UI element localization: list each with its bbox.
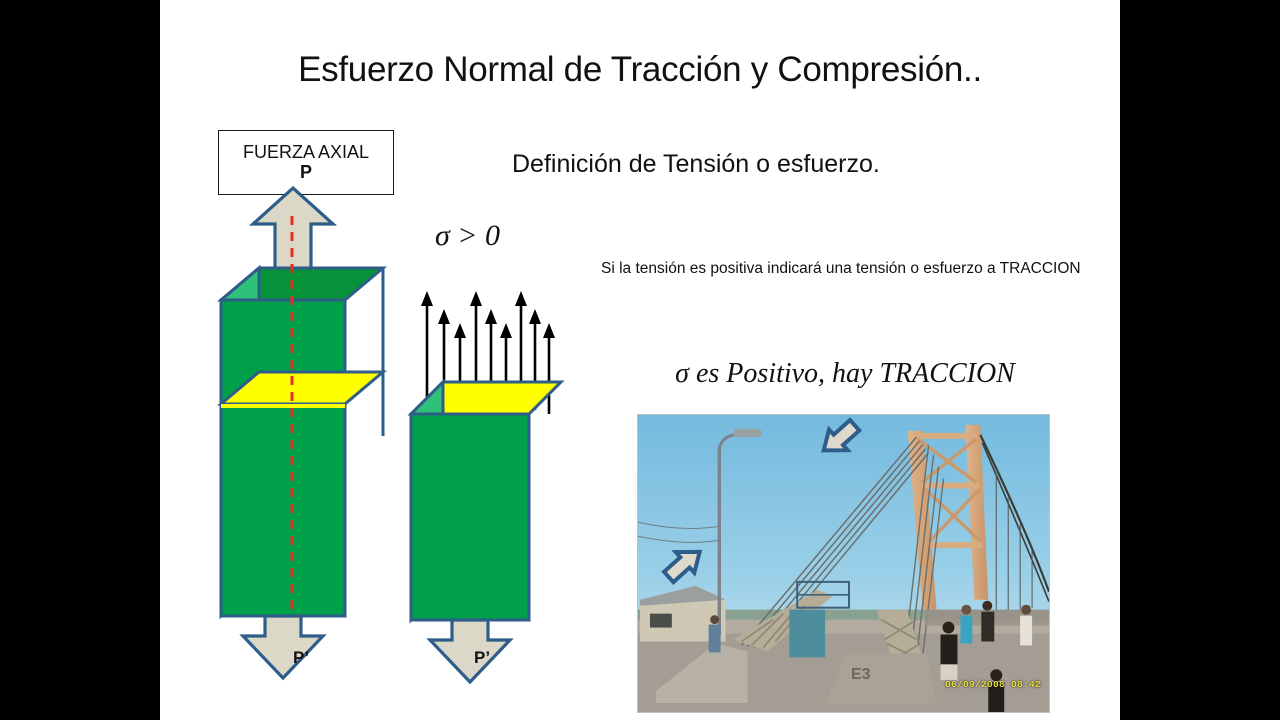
photo-lamp-post [718,447,721,636]
photo-tower-cross-low [930,542,983,548]
explanation-paragraph: Si la tensión es positiva indicará una t… [601,255,1095,282]
slide-canvas: Esfuerzo Normal de Tracción y Compresión… [160,0,1120,720]
photo-graffiti: E3 [851,666,871,683]
fuerza-axial-label: FUERZA AXIAL [243,143,369,162]
definition-heading: Definición de Tensión o esfuerzo. [512,150,880,179]
prism2-bottom-force-arrow [430,620,510,682]
prism-diagram-stress [405,288,575,676]
conclusion-text: σ es Positivo, hay TRACCION [610,358,1080,390]
letterbox-bar-left [0,0,160,720]
section-plane-front [221,404,345,408]
prism-diagram-axial [215,196,405,676]
sigma-condition: σ > 0 [435,219,500,253]
prism2-front-face [411,414,529,620]
prism1-bottom-force-label: P’ [293,648,309,668]
page-title: Esfuerzo Normal de Tracción y Compresión… [160,50,1120,90]
cable-stayed-bridge-photo: E3 06/09/2008 08:42 [637,414,1050,713]
fuerza-axial-symbol: P [300,162,312,183]
photo-lamp-head [734,429,762,437]
letterbox-bar-right [1120,0,1280,720]
photo-kiosk [789,610,825,658]
photo-tower-cross-top [914,433,977,439]
prism-front-face [221,300,345,616]
bottom-force-arrow [243,616,323,678]
photo-timestamp: 06/09/2008 08:42 [945,679,1041,690]
fuerza-axial-box: FUERZA AXIAL P [218,130,394,195]
prism2-bottom-force-label: P’ [474,648,490,668]
photo-building-window [650,614,672,628]
